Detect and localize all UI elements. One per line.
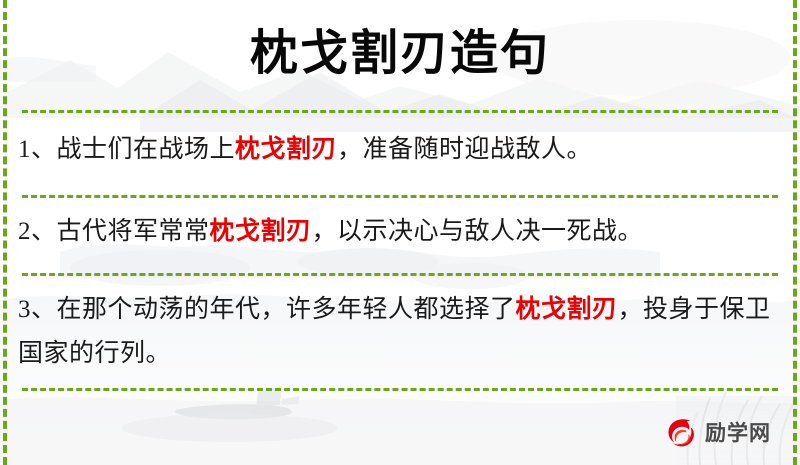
sentence-number: 1、 xyxy=(18,136,57,163)
sentence-text-before: 战士们在战场上 xyxy=(57,136,236,163)
sentence-item: 1、战士们在战场上枕戈割刃，准备随时迎战敌人。 xyxy=(18,128,782,172)
sentence-text-after: ，以示决心与敌人决一死战。 xyxy=(312,218,644,245)
sentence-number: 3、 xyxy=(18,296,57,323)
divider-1 xyxy=(22,110,778,113)
swirl-flame-logo-icon xyxy=(662,415,698,451)
sentence-text-after: ，准备随时迎战敌人。 xyxy=(337,136,592,163)
divider-3 xyxy=(22,273,778,276)
sentence-item: 3、在那个动荡的年代，许多年轻人都选择了枕戈割刃，投身于保卫国家的行列。 xyxy=(18,288,782,376)
site-watermark[interactable]: 励学网 xyxy=(662,415,771,451)
sentence-text-before: 在那个动荡的年代，许多年轻人都选择了 xyxy=(57,296,516,323)
sentence-item: 2、古代将军常常枕戈割刃，以示决心与敌人决一死战。 xyxy=(18,210,782,254)
cloud-blob-a xyxy=(70,250,250,286)
page-title: 枕戈割刃造句 xyxy=(0,24,800,82)
idiom-highlight: 枕戈割刃 xyxy=(516,296,618,323)
divider-4 xyxy=(22,388,778,391)
cloud-blob-c xyxy=(412,263,528,289)
site-brand-name: 励学网 xyxy=(705,415,771,451)
boat-reflection xyxy=(122,414,338,442)
sentence-text-before: 古代将军常常 xyxy=(57,218,210,245)
idiom-highlight: 枕戈割刃 xyxy=(210,218,312,245)
divider-2 xyxy=(22,195,778,198)
page-root: 枕戈割刃造句 1、战士们在战场上枕戈割刃，准备随时迎战敌人。 2、古代将军常常枕… xyxy=(0,0,800,465)
sentence-number: 2、 xyxy=(18,218,57,245)
idiom-highlight: 枕戈割刃 xyxy=(235,136,337,163)
